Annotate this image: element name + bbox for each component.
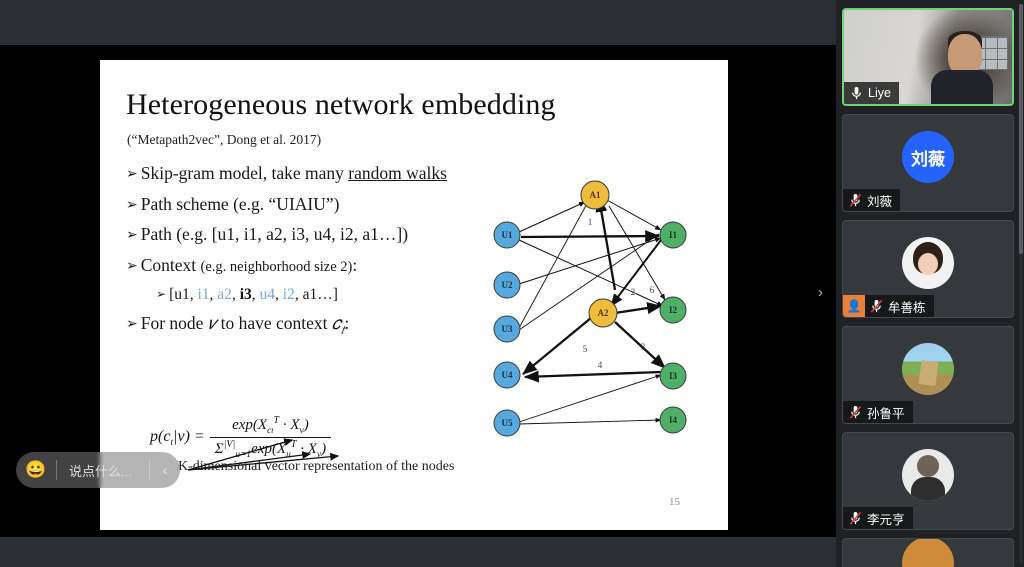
bullet-arrow-icon: ➢	[126, 199, 138, 213]
bullet-item: ➢ Path scheme (e.g. “UIAIU”)	[126, 196, 526, 214]
participant-namebar: 刘薇	[843, 189, 900, 211]
token: ,	[252, 286, 260, 303]
token: [u1,	[169, 286, 197, 303]
slide-subtitle: (“Metapath2vec”, Dong et al. 2017)	[127, 132, 321, 148]
participant-tile[interactable]: 李元亨	[842, 432, 1014, 530]
microphone-muted-icon	[849, 405, 862, 420]
token: a2	[217, 286, 232, 303]
heterogeneous-network-graph: U1 U2 U3 U4 U5 A1 A2 I1 I2 I3 I4 1	[485, 170, 715, 465]
panel-scrollbar-thumb[interactable]	[1019, 4, 1023, 254]
chat-input[interactable]: 说点什么...	[57, 452, 149, 488]
avatar	[931, 70, 993, 106]
svg-text:U2: U2	[502, 280, 513, 290]
svg-text:2: 2	[631, 287, 636, 297]
svg-text:6: 6	[650, 285, 655, 295]
formula-numerator: exp(XctT · Xv)	[227, 415, 314, 437]
svg-text:3: 3	[641, 342, 646, 352]
bullet-item: ➢ Path (e.g. [u1, i1, a2, i3, u4, i2, a1…	[126, 226, 526, 244]
token: i3	[240, 286, 252, 303]
bullet-emphasis: random walks	[348, 163, 447, 183]
bullet-item: ➢ Context (e.g. neighborhood size 2):	[126, 257, 526, 275]
svg-text:A2: A2	[598, 308, 609, 318]
meeting-screen: Heterogeneous network embedding (“Metapa…	[0, 0, 1024, 567]
svg-text:4: 4	[598, 360, 603, 370]
token: ,	[232, 286, 240, 303]
svg-text:U5: U5	[502, 418, 513, 428]
smiley-icon[interactable]: 😀	[16, 452, 56, 488]
bullet-arrow-icon: ➢	[126, 318, 138, 332]
svg-text:U1: U1	[502, 230, 513, 240]
bullet-arrow-icon: ➢	[126, 168, 138, 182]
microphone-muted-icon	[870, 299, 883, 314]
participant-tile[interactable]: 刘薇 刘薇	[842, 114, 1014, 212]
avatar	[902, 237, 954, 289]
bullet-text: Skip-gram model, take many random walks	[141, 165, 447, 183]
caption-arrows	[160, 438, 360, 518]
token: , a1…]	[295, 286, 338, 303]
token: i1	[197, 286, 209, 303]
slide-title: Heterogeneous network embedding	[126, 88, 556, 122]
bullet-item: ➢ For node 𝑣 to have context 𝑐𝑡:	[126, 314, 526, 337]
bullet-text: Context (e.g. neighborhood size 2):	[141, 257, 357, 275]
bullet-sub-item: ➢ [u1, i1, a2, i3, u4, i2, a1…]	[156, 287, 526, 303]
context-token-list: [u1, i1, a2, i3, u4, i2, a1…]	[169, 287, 338, 303]
svg-text:I2: I2	[669, 305, 678, 315]
participant-tile[interactable]: Liye	[842, 8, 1014, 106]
participant-name: 李元亨	[867, 509, 905, 528]
shared-screen-stage: Heterogeneous network embedding (“Metapa…	[0, 0, 836, 567]
slide-caption: K-dimensional vector representation of t…	[178, 459, 454, 475]
svg-text:5: 5	[583, 344, 588, 354]
participant-namebar: 李元亨	[843, 507, 913, 529]
avatar	[902, 343, 954, 395]
bullet-text: Path (e.g. [u1, i1, a2, i3, u4, i2, a1…]…	[141, 226, 408, 244]
microphone-muted-icon	[849, 193, 862, 208]
chat-input-bar[interactable]: 😀 说点什么... ‹	[16, 452, 180, 488]
bullet-arrow-icon: ➢	[126, 260, 138, 274]
slide-bullet-list: ➢ Skip-gram model, take many random walk…	[126, 165, 526, 349]
avatar	[902, 538, 954, 567]
participant-tile[interactable]: 孙鲁平	[842, 326, 1014, 424]
token: ,	[275, 286, 283, 303]
microphone-icon	[850, 86, 863, 101]
bullet-item: ➢ Skip-gram model, take many random walk…	[126, 165, 526, 183]
svg-text:U4: U4	[502, 370, 513, 380]
avatar: 刘薇	[902, 131, 954, 183]
participant-namebar: 孙鲁平	[843, 401, 913, 423]
bullet-arrow-icon: ➢	[156, 288, 166, 300]
bullet-text: For node 𝑣 to have context 𝑐𝑡:	[141, 314, 349, 337]
token: u4	[260, 286, 276, 303]
avatar	[902, 449, 954, 501]
participant-namebar: Liye	[844, 82, 899, 104]
participant-tile[interactable]: 👤 牟善栋	[842, 220, 1014, 318]
participant-name: Liye	[868, 86, 891, 100]
bullet-text: Path scheme (e.g. “UIAIU”)	[141, 196, 340, 214]
participant-name: 刘薇	[867, 191, 892, 210]
svg-text:I4: I4	[669, 415, 678, 425]
presentation-slide: Heterogeneous network embedding (“Metapa…	[100, 60, 728, 530]
svg-text:1: 1	[588, 217, 593, 227]
bullet-arrow-icon: ➢	[126, 229, 138, 243]
chevron-right-icon[interactable]: ›	[818, 285, 823, 300]
host-badge-icon: 👤	[843, 295, 865, 317]
svg-text:I1: I1	[669, 230, 678, 240]
svg-text:I3: I3	[669, 371, 678, 381]
participants-panel: Liye 刘薇 刘薇 👤	[836, 0, 1024, 567]
svg-text:A1: A1	[590, 190, 601, 200]
participant-tile[interactable]	[842, 538, 1014, 567]
slide-page-number: 15	[669, 496, 680, 508]
participant-namebar: 👤 牟善栋	[843, 295, 934, 317]
token: i2	[283, 286, 295, 303]
participant-name: 孙鲁平	[867, 403, 905, 422]
microphone-muted-icon	[849, 511, 862, 526]
participant-name: 牟善栋	[888, 297, 926, 316]
svg-text:U3: U3	[502, 324, 513, 334]
